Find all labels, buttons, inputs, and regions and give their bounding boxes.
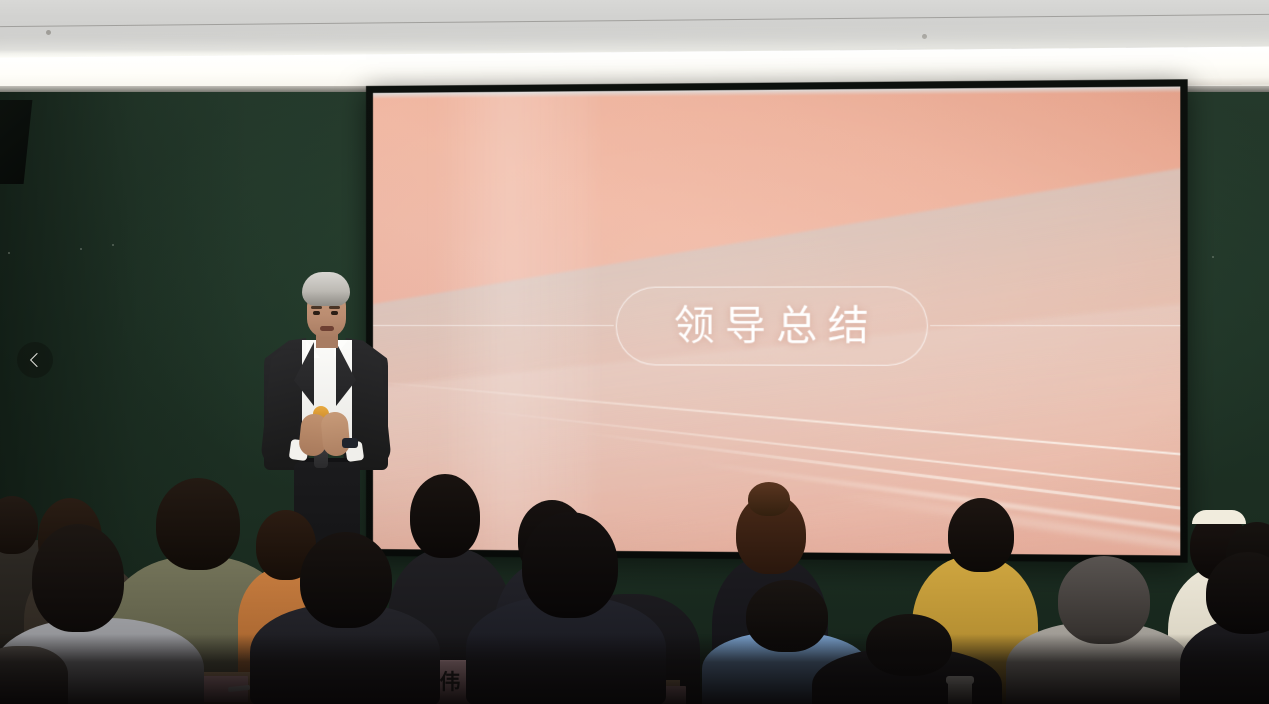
list-item (410, 474, 480, 558)
slide-title-pill: 领导总结 (616, 286, 928, 366)
list-item (300, 532, 392, 628)
wall-speck (8, 252, 10, 254)
list-item (156, 478, 240, 570)
presentation-photo-viewer: 领导总结 (0, 0, 1269, 704)
list-item (32, 524, 124, 632)
speaker-hand-right (320, 411, 351, 457)
list-item (748, 482, 790, 516)
speaker-mouth (320, 326, 334, 331)
headband (1192, 510, 1246, 524)
ceiling-fixture-dot (922, 34, 927, 39)
ceiling-fixture-dot (46, 30, 51, 35)
list-item (1058, 556, 1150, 644)
wall-speck (80, 248, 82, 250)
chevron-left-icon (29, 353, 43, 367)
slide-title-text: 领导总结 (664, 305, 880, 346)
ceiling-seam (0, 14, 1269, 27)
wall-speck (1212, 256, 1214, 258)
wall-speck (112, 244, 114, 246)
speaker-eye (313, 311, 320, 315)
speaker-hair (302, 272, 350, 306)
list-item (948, 498, 1014, 572)
slide-title-row: 领导总结 (373, 276, 1180, 375)
speaker-eyebrow (311, 306, 322, 309)
speaker-wristwatch (342, 438, 358, 448)
list-item (522, 512, 618, 618)
speaker-eyebrow (329, 306, 340, 309)
slide-title-rule-left (373, 325, 614, 326)
foreground-shadow (0, 634, 1269, 704)
speaker-eye (331, 311, 338, 315)
previous-image-button[interactable] (17, 342, 53, 378)
slide-title-rule-right (930, 325, 1180, 326)
